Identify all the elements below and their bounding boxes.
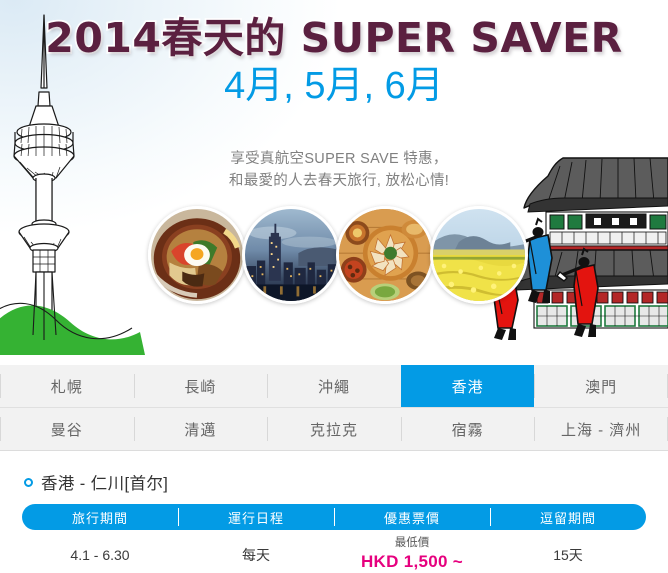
tab-label: 克拉克 [310, 419, 358, 440]
banner-description-line1: 享受真航空SUPER SAVE 特惠， [184, 148, 494, 170]
tab-cebu[interactable]: 宿霧 [401, 408, 535, 450]
tab-hongkong[interactable]: 香港 [401, 365, 535, 407]
tab-label: 沖繩 [318, 376, 350, 397]
column-header-travel-period: 旅行期間 [22, 504, 178, 530]
cell-schedule: 每天 [178, 539, 334, 565]
tab-label: 曼谷 [51, 419, 83, 440]
tab-nagasaki[interactable]: 長崎 [134, 365, 268, 407]
promo-banner: 2014春天的 SUPER SAVER 4月, 5月, 6月 享受真航空SUPE… [0, 0, 668, 365]
route-section: 香港 - 仁川[首尔] 旅行期間 運行日程 優惠票價 逗留期間 4.1 - 6.… [0, 452, 668, 573]
tab-label: 上海 - 濟州 [561, 419, 641, 440]
photo-bibimbap [148, 206, 246, 304]
column-header-stay-period: 逗留期間 [490, 504, 646, 530]
cell-stay-period: 15天 [490, 539, 646, 565]
n-seoul-tower-illustration [0, 10, 150, 355]
tab-label: 澳門 [585, 376, 617, 397]
promo-page: 2014春天的 SUPER SAVER 4月, 5月, 6月 享受真航空SUPE… [0, 0, 668, 573]
destination-tabs: 札幌 長崎 沖繩 香港 澳門 曼谷 清邁 克拉克 宿霧 上海 - 濟州 [0, 365, 668, 451]
destination-tab-row-2: 曼谷 清邁 克拉克 宿霧 上海 - 濟州 [0, 408, 668, 451]
tab-label: 香港 [452, 376, 484, 397]
column-header-schedule: 運行日程 [178, 504, 334, 530]
fare-price-value: HKD 1,500 ~ [334, 551, 490, 572]
photo-korean-feast [336, 206, 434, 304]
tab-label: 清邁 [184, 419, 216, 440]
banner-photo-strip [148, 206, 528, 306]
photo-city-skyline [242, 206, 340, 304]
tab-chiangmai[interactable]: 清邁 [134, 408, 268, 450]
cell-travel-period: 4.1 - 6.30 [22, 541, 178, 563]
tab-clark[interactable]: 克拉克 [267, 408, 401, 450]
table-row: 4.1 - 6.30 每天 最低價 HKD 1,500 ~ 15天 [22, 530, 646, 573]
tab-shanghai-jeju[interactable]: 上海 - 濟州 [534, 408, 668, 450]
banner-description: 享受真航空SUPER SAVE 特惠， 和最愛的人去春天旅行, 放松心情! [184, 148, 494, 193]
tab-okinawa[interactable]: 沖繩 [267, 365, 401, 407]
banner-description-line2: 和最愛的人去春天旅行, 放松心情! [184, 170, 494, 192]
tab-label: 札幌 [51, 376, 83, 397]
photo-canola-field [430, 206, 528, 304]
route-bullet-icon [24, 478, 33, 487]
route-heading: 香港 - 仁川[首尔] [0, 452, 668, 494]
route-label: 香港 - 仁川[首尔] [41, 470, 168, 494]
tab-sapporo[interactable]: 札幌 [0, 365, 134, 407]
fare-table-header: 旅行期間 運行日程 優惠票價 逗留期間 [22, 504, 646, 530]
tab-bangkok[interactable]: 曼谷 [0, 408, 134, 450]
destination-tab-row-1: 札幌 長崎 沖繩 香港 澳門 [0, 365, 668, 408]
tab-label: 長崎 [184, 376, 216, 397]
fare-lowest-label: 最低價 [334, 537, 490, 551]
cell-fare: 最低價 HKD 1,500 ~ [334, 531, 490, 572]
tab-macau[interactable]: 澳門 [534, 365, 668, 407]
fare-table: 旅行期間 運行日程 優惠票價 逗留期間 4.1 - 6.30 每天 最低價 HK… [22, 504, 646, 573]
tab-label: 宿霧 [452, 419, 484, 440]
column-header-fare: 優惠票價 [334, 504, 490, 530]
